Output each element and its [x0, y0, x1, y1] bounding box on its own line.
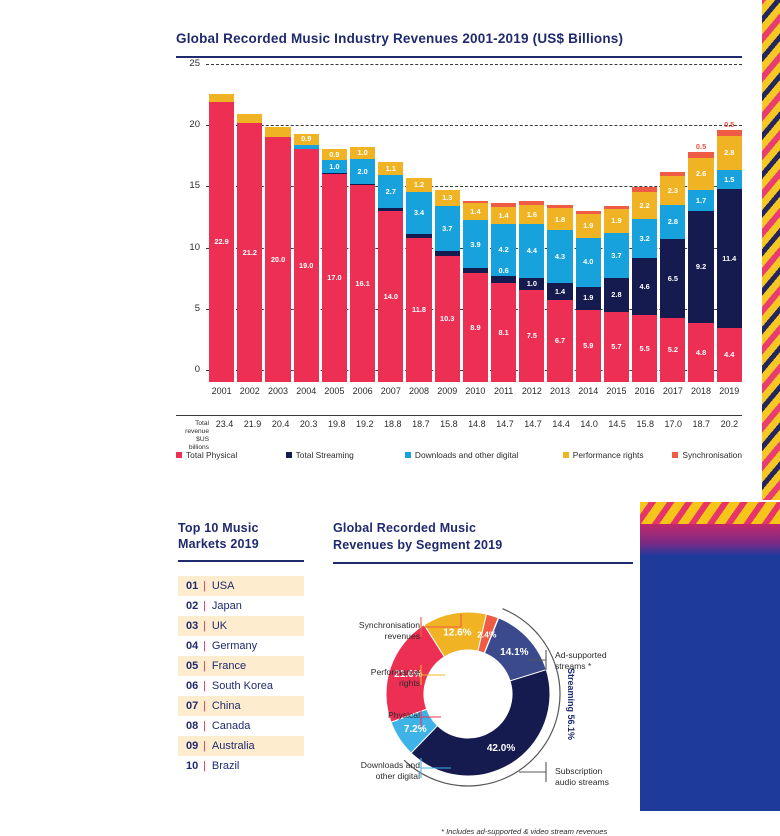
legend-label: Performance rights — [573, 450, 644, 460]
y-tick-label-0: 0 — [176, 364, 200, 375]
market-name: Japan — [212, 600, 242, 612]
total-revenue-2008: 18.7 — [408, 419, 433, 429]
segment-value-label: 6.7 — [555, 337, 565, 344]
segment-value-label: 6.5 — [668, 275, 678, 282]
market-list-item-usa[interactable]: 01|USA — [178, 576, 304, 596]
segment-value-label: 4.2 — [498, 246, 508, 253]
market-name: China — [212, 700, 241, 712]
market-name: Brazil — [212, 760, 240, 772]
bar-2010: 1.43.98.9 — [463, 201, 488, 382]
bar-segment-downloads-2014: 4.0 — [576, 238, 601, 287]
segment-value-label: 1.9 — [611, 217, 621, 224]
x-tick-label-2001: 2001 — [209, 386, 234, 396]
total-revenue-2003: 20.4 — [268, 419, 293, 429]
market-rank: 01 — [186, 580, 201, 592]
total-revenue-2006: 19.2 — [352, 419, 377, 429]
bar-segment-performance-rights-2012: 1.6 — [519, 205, 544, 225]
segment-value-label: 11.8 — [412, 306, 426, 313]
rank-separator: | — [203, 760, 206, 772]
donut-value-label: 7.2% — [404, 724, 427, 735]
legend-label: Synchronisation — [682, 450, 742, 460]
segment-value-label: 0.5 — [696, 143, 706, 150]
x-tick-label-2014: 2014 — [576, 386, 601, 396]
decorative-gradient-wash — [640, 524, 780, 556]
total-revenue-2014: 14.0 — [577, 419, 602, 429]
segment-value-label: 20.0 — [271, 256, 285, 263]
x-tick-label-2004: 2004 — [294, 386, 319, 396]
bar-2001: 0.622.9 — [209, 94, 234, 382]
legend-label: Downloads and other digital — [415, 450, 518, 460]
bar-segment-downloads-2005: 1.0 — [322, 160, 347, 172]
x-tick-label-2005: 2005 — [322, 386, 347, 396]
segment-value-label: 1.9 — [583, 294, 593, 301]
segment-value-label: 17.0 — [327, 274, 341, 281]
segment-value-label: 1.1 — [386, 165, 396, 172]
bar-segment-streaming-2018: 9.2 — [688, 211, 713, 324]
legend-item-performance-rights: Performance rights — [563, 450, 673, 460]
x-tick-label-2006: 2006 — [350, 386, 375, 396]
total-revenue-2018: 18.7 — [689, 419, 714, 429]
bar-chart-title: Global Recorded Music Industry Revenues … — [176, 30, 742, 48]
segment-value-label: 22.9 — [214, 238, 228, 245]
callout-subscription: Subscription audio streams — [555, 766, 641, 788]
bar-segment-physical-2018: 4.8 — [688, 323, 713, 382]
report-page: Global Recorded Music Industry Revenues … — [0, 0, 780, 811]
bar-2017: 2.32.86.55.2 — [660, 172, 685, 382]
market-name: Germany — [212, 640, 257, 652]
rank-separator: | — [203, 580, 206, 592]
segment-value-label: 1.9 — [583, 222, 593, 229]
bar-segment-performance-rights-2002: 0.7 — [237, 114, 262, 123]
market-name: France — [212, 660, 246, 672]
segment-value-label: 11.4 — [722, 255, 736, 262]
bar-segment-physical-2002: 21.2 — [237, 123, 262, 382]
bar-segment-performance-rights-2019: 2.8 — [717, 136, 742, 170]
market-list-item-uk[interactable]: 03|UK — [178, 616, 304, 636]
segment-value-label: 2.8 — [724, 149, 734, 156]
callout-physical: Physical — [328, 710, 420, 721]
total-revenue-2001: 23.4 — [212, 419, 237, 429]
totals-row: Total revenue $US billions 23.421.920.42… — [176, 415, 742, 452]
bar-2003: 0.820.0 — [265, 127, 290, 382]
bar-segment-streaming-2019: 11.4 — [717, 189, 742, 329]
donut-title: Global Recorded Music Revenues by Segmen… — [333, 520, 633, 554]
bar-segment-physical-2009: 10.3 — [435, 256, 460, 382]
total-revenue-2016: 15.8 — [633, 419, 658, 429]
bar-segment-downloads-2016: 3.2 — [632, 219, 657, 258]
x-tick-label-2009: 2009 — [435, 386, 460, 396]
bar-segment-streaming-2015: 2.8 — [604, 278, 629, 312]
total-revenue-2009: 15.8 — [436, 419, 461, 429]
market-rank: 06 — [186, 680, 201, 692]
bar-segment-downloads-2007: 2.7 — [378, 175, 403, 208]
legend-label: Total Physical — [186, 450, 237, 460]
total-revenue-2004: 20.3 — [296, 419, 321, 429]
rank-separator: | — [203, 740, 206, 752]
bar-segment-physical-2004: 19.0 — [294, 149, 319, 382]
bar-segment-performance-rights-2001: 0.6 — [209, 94, 234, 101]
donut-value-label: 12.6% — [443, 627, 471, 638]
total-revenue-2013: 14.4 — [549, 419, 574, 429]
x-tick-label-2018: 2018 — [688, 386, 713, 396]
bar-2013: 1.84.31.46.7 — [547, 205, 572, 382]
top-10-title: Top 10 Music Markets 2019 — [178, 520, 304, 552]
bar-2012: 1.64.41.07.5 — [519, 201, 544, 382]
segment-value-label: 19.0 — [299, 262, 313, 269]
bar-segment-downloads-2008: 3.4 — [406, 192, 431, 234]
bar-segment-physical-2011: 8.1 — [491, 283, 516, 382]
segment-value-label: 5.9 — [583, 342, 593, 349]
bar-segment-performance-rights-2004: 0.9 — [294, 134, 319, 145]
bar-segment-performance-rights-2018: 2.6 — [688, 158, 713, 190]
segment-value-label: 14.0 — [384, 293, 398, 300]
totals-row-label: Total revenue $US billions — [176, 419, 212, 452]
rank-separator: | — [203, 700, 206, 712]
segment-value-label: 2.2 — [640, 202, 650, 209]
segment-value-label: 1.4 — [555, 288, 565, 295]
bar-2015: 1.93.72.85.7 — [604, 206, 629, 382]
bar-segment-streaming-2011: 0.6 — [491, 276, 516, 283]
segment-value-label: 1.0 — [527, 280, 537, 287]
market-rank: 02 — [186, 600, 201, 612]
segment-value-label: 5.2 — [668, 346, 678, 353]
bar-group: 0.622.90.721.20.820.00.919.00.91.017.01.… — [209, 76, 742, 382]
market-rank: 09 — [186, 740, 201, 752]
total-revenue-2011: 14.7 — [492, 419, 517, 429]
market-list-item-china[interactable]: 07|China — [178, 696, 304, 716]
legend-swatch-icon — [176, 452, 182, 458]
segment-value-label: 2.0 — [357, 168, 367, 175]
legend-swatch-icon — [672, 452, 678, 458]
bar-segment-streaming-2014: 1.9 — [576, 287, 601, 310]
bar-segment-performance-rights-2016: 2.2 — [632, 192, 657, 219]
segment-value-label: 21.2 — [243, 249, 257, 256]
rank-separator: | — [203, 600, 206, 612]
bar-segment-physical-2007: 14.0 — [378, 211, 403, 382]
bar-segment-physical-2013: 6.7 — [547, 300, 572, 382]
bar-segment-performance-rights-2010: 1.4 — [463, 203, 488, 220]
market-list-item-france[interactable]: 05|France — [178, 656, 304, 676]
market-rank: 04 — [186, 640, 201, 652]
bar-segment-downloads-2006: 2.0 — [350, 159, 375, 183]
market-list-item-australia[interactable]: 09|Australia — [178, 736, 304, 756]
segment-value-label: 1.8 — [555, 216, 565, 223]
market-rank: 03 — [186, 620, 201, 632]
bar-segment-performance-rights-2009: 1.3 — [435, 190, 460, 206]
market-list-item-japan[interactable]: 02|Japan — [178, 596, 304, 616]
title-divider — [176, 56, 742, 58]
decorative-blue-panel — [640, 502, 780, 811]
bar-2006: 1.02.016.1 — [350, 147, 375, 382]
grid-line-25 — [206, 64, 742, 65]
legend-swatch-icon — [563, 452, 569, 458]
segment-value-label: 4.0 — [583, 258, 593, 265]
markets-list: 01|USA02|Japan03|UK04|Germany05|France06… — [178, 576, 304, 776]
x-tick-label-2003: 2003 — [265, 386, 290, 396]
bar-2014: 1.94.01.95.9 — [576, 211, 601, 382]
bar-segment-performance-rights-2015: 1.9 — [604, 209, 629, 232]
donut-chart-wrapper: 14.1%42.0%7.2%21.6%12.6%2.4%Streaming 56… — [333, 572, 633, 807]
market-list-item-brazil[interactable]: 10|Brazil — [178, 756, 304, 776]
segment-value-label: 9.2 — [696, 263, 706, 270]
segment-value-label: 0.7 — [245, 105, 255, 112]
y-tick-label-10: 10 — [176, 242, 200, 253]
segment-value-label: 1.4 — [470, 208, 480, 215]
x-tick-label-2013: 2013 — [547, 386, 572, 396]
bar-segment-physical-2001: 22.9 — [209, 102, 234, 382]
segment-value-label: 3.7 — [611, 252, 621, 259]
x-tick-label-2011: 2011 — [491, 386, 516, 396]
bar-segment-downloads-2013: 4.3 — [547, 230, 572, 283]
bar-segment-physical-2016: 5.5 — [632, 315, 657, 382]
bar-segment-downloads-2019: 1.5 — [717, 170, 742, 188]
segment-value-label: 4.4 — [527, 247, 537, 254]
legend-item-total-streaming: Total Streaming — [286, 450, 405, 460]
total-revenue-2012: 14.7 — [521, 419, 546, 429]
revenues-bar-chart-section: Global Recorded Music Industry Revenues … — [176, 30, 742, 394]
x-tick-label-2002: 2002 — [237, 386, 262, 396]
legend-item-synchronisation: Synchronisation — [672, 450, 742, 460]
legend-label: Total Streaming — [296, 450, 354, 460]
segment-value-label: 0.6 — [498, 267, 508, 274]
legend-item-total-physical: Total Physical — [176, 450, 286, 460]
segment-value-label: 2.7 — [386, 188, 396, 195]
segment-value-label: 4.3 — [555, 253, 565, 260]
callout-ad-supported: Ad-supported streams * — [555, 650, 641, 672]
streaming-arc-label: Streaming 56.1% — [566, 668, 576, 740]
bar-segment-downloads-2018: 1.7 — [688, 190, 713, 211]
segment-value-label: 3.2 — [640, 235, 650, 242]
x-tick-label-2015: 2015 — [604, 386, 629, 396]
total-revenue-2015: 14.5 — [605, 419, 630, 429]
market-name: UK — [212, 620, 227, 632]
market-rank: 08 — [186, 720, 201, 732]
rank-separator: | — [203, 660, 206, 672]
segment-value-label: 1.2 — [414, 181, 424, 188]
decorative-edge-stripe — [762, 0, 780, 500]
bar-segment-physical-2008: 11.8 — [406, 238, 431, 382]
x-axis-labels: 2001200220032004200520062007200820092010… — [209, 386, 742, 396]
bar-segment-performance-rights-2011: 1.4 — [491, 207, 516, 224]
segment-value-label: 1.0 — [329, 163, 339, 170]
segment-value-label: 10.3 — [440, 315, 454, 322]
bar-segment-streaming-2017: 6.5 — [660, 239, 685, 319]
legend-swatch-icon — [286, 452, 292, 458]
bar-segment-physical-2006: 16.1 — [350, 185, 375, 382]
bar-segment-performance-rights-2005: 0.9 — [322, 149, 347, 160]
segment-value-label: 3.4 — [414, 209, 424, 216]
bar-chart-plot: 0510152025 0.622.90.721.20.820.00.919.00… — [176, 64, 742, 394]
bar-segment-performance-rights-2007: 1.1 — [378, 162, 403, 175]
donut-value-label: 2.4% — [477, 629, 497, 639]
segment-value-label: 5.7 — [611, 343, 621, 350]
segment-value-label: 8.9 — [470, 324, 480, 331]
market-name: Australia — [212, 740, 255, 752]
bar-segment-physical-2010: 8.9 — [463, 273, 488, 382]
y-tick-label-5: 5 — [176, 303, 200, 314]
market-rank: 07 — [186, 700, 201, 712]
segment-value-label: 1.4 — [498, 212, 508, 219]
x-tick-label-2016: 2016 — [632, 386, 657, 396]
market-rank: 05 — [186, 660, 201, 672]
legend-item-downloads-and-other-digital: Downloads and other digital — [405, 450, 563, 460]
segment-value-label: 0.8 — [273, 119, 283, 126]
rank-separator: | — [203, 680, 206, 692]
y-tick-label-25: 25 — [176, 58, 200, 69]
decorative-diagonal-stripes — [640, 502, 780, 524]
donut-footnote: * Includes ad-supported & video stream r… — [441, 827, 607, 836]
bar-2005: 0.91.017.0 — [322, 149, 347, 382]
segment-value-label: 3.7 — [442, 225, 452, 232]
bar-chart-legend: Total PhysicalTotal StreamingDownloads a… — [176, 450, 742, 460]
x-tick-label-2019: 2019 — [717, 386, 742, 396]
total-revenue-2005: 19.8 — [324, 419, 349, 429]
total-revenue-2002: 21.9 — [240, 419, 265, 429]
donut-value-label: 42.0% — [487, 743, 515, 754]
segment-value-label: 5.5 — [640, 345, 650, 352]
bar-2002: 0.721.2 — [237, 114, 262, 382]
bar-segment-downloads-2010: 3.9 — [463, 220, 488, 268]
segment-value-label: 1.7 — [696, 197, 706, 204]
bar-segment-downloads-2015: 3.7 — [604, 233, 629, 278]
segment-value-label: 1.3 — [442, 194, 452, 201]
segment-donut-section: Global Recorded Music Revenues by Segmen… — [333, 520, 633, 807]
market-list-item-canada[interactable]: 08|Canada — [178, 716, 304, 736]
bar-segment-streaming-2012: 1.0 — [519, 278, 544, 290]
segment-value-label: 1.5 — [724, 176, 734, 183]
bar-segment-performance-rights-2013: 1.8 — [547, 208, 572, 230]
bar-segment-performance-rights-2003: 0.8 — [265, 127, 290, 137]
bar-2011: 1.44.20.68.1 — [491, 203, 516, 382]
bar-segment-physical-2014: 5.9 — [576, 310, 601, 382]
segment-value-label: 3.9 — [470, 241, 480, 248]
bar-2008: 1.23.411.8 — [406, 178, 431, 382]
bar-2007: 1.12.714.0 — [378, 162, 403, 382]
market-rank: 10 — [186, 760, 201, 772]
bar-segment-performance-rights-2008: 1.2 — [406, 178, 431, 193]
segment-value-label: 2.6 — [696, 170, 706, 177]
donut-value-label: 14.1% — [500, 647, 528, 658]
total-revenue-2017: 17.0 — [661, 419, 686, 429]
top-10-divider — [178, 560, 304, 562]
bar-segment-downloads-2009: 3.7 — [435, 206, 460, 251]
totals-divider — [176, 415, 742, 416]
segment-value-label: 1.0 — [357, 149, 367, 156]
market-name: Canada — [212, 720, 251, 732]
market-list-item-south-korea[interactable]: 06|South Korea — [178, 676, 304, 696]
segment-value-label: 0.9 — [329, 151, 339, 158]
totals-values: 23.421.920.420.319.819.218.818.715.814.8… — [212, 419, 742, 429]
segment-value-label: 2.8 — [611, 291, 621, 298]
bar-segment-physical-2019: 4.4 — [717, 328, 742, 382]
segment-value-label: 2.8 — [668, 218, 678, 225]
top-10-markets-section: Top 10 Music Markets 2019 01|USA02|Japan… — [178, 520, 304, 776]
segment-value-label: 0.5 — [724, 121, 734, 128]
segment-value-label: 4.6 — [640, 283, 650, 290]
segment-value-label: 16.1 — [355, 280, 369, 287]
callout-performance-rights: Performance rights — [328, 667, 420, 689]
segment-value-label: 0.9 — [301, 135, 311, 142]
segment-value-label: 4.4 — [724, 351, 734, 358]
y-tick-label-15: 15 — [176, 180, 200, 191]
segment-value-label: 1.6 — [527, 211, 537, 218]
rank-separator: | — [203, 720, 206, 732]
bar-segment-physical-2012: 7.5 — [519, 290, 544, 382]
bar-segment-streaming-2016: 4.6 — [632, 258, 657, 314]
total-revenue-2010: 14.8 — [464, 419, 489, 429]
total-revenue-2007: 18.8 — [380, 419, 405, 429]
segment-value-label: 8.1 — [498, 329, 508, 336]
donut-divider — [333, 562, 633, 564]
rank-separator: | — [203, 620, 206, 632]
segment-value-label: 4.8 — [696, 349, 706, 356]
market-list-item-germany[interactable]: 04|Germany — [178, 636, 304, 656]
bar-2018: 0.52.61.79.24.8 — [688, 152, 713, 382]
segment-value-label: 2.3 — [668, 187, 678, 194]
bar-2009: 1.33.710.3 — [435, 190, 460, 382]
bar-2019: 0.52.81.511.44.4 — [717, 130, 742, 382]
bar-segment-performance-rights-2017: 2.3 — [660, 176, 685, 204]
total-revenue-2019: 20.2 — [717, 419, 742, 429]
y-tick-label-20: 20 — [176, 119, 200, 130]
x-tick-label-2012: 2012 — [519, 386, 544, 396]
legend-swatch-icon — [405, 452, 411, 458]
bar-2016: 2.23.24.65.5 — [632, 187, 657, 382]
bar-segment-physical-2003: 20.0 — [265, 137, 290, 382]
bar-segment-performance-rights-2014: 1.9 — [576, 214, 601, 237]
x-tick-label-2010: 2010 — [463, 386, 488, 396]
bar-2004: 0.919.0 — [294, 134, 319, 382]
rank-separator: | — [203, 640, 206, 652]
segment-value-label: 7.5 — [527, 332, 537, 339]
market-name: South Korea — [212, 680, 273, 692]
bar-segment-physical-2005: 17.0 — [322, 174, 347, 382]
callout-synchronisation: Synchronisation revenues — [328, 620, 420, 642]
callout-downloads: Downloads and other digital — [321, 760, 420, 782]
bar-segment-streaming-2013: 1.4 — [547, 283, 572, 300]
bar-segment-performance-rights-2006: 1.0 — [350, 147, 375, 159]
market-name: USA — [212, 580, 235, 592]
segment-value-label: 0.6 — [216, 86, 226, 93]
x-tick-label-2007: 2007 — [378, 386, 403, 396]
x-tick-label-2017: 2017 — [660, 386, 685, 396]
x-tick-label-2008: 2008 — [406, 386, 431, 396]
bar-segment-physical-2017: 5.2 — [660, 318, 685, 382]
bar-segment-downloads-2012: 4.4 — [519, 224, 544, 278]
bar-segment-physical-2015: 5.7 — [604, 312, 629, 382]
bar-segment-downloads-2017: 2.8 — [660, 205, 685, 239]
